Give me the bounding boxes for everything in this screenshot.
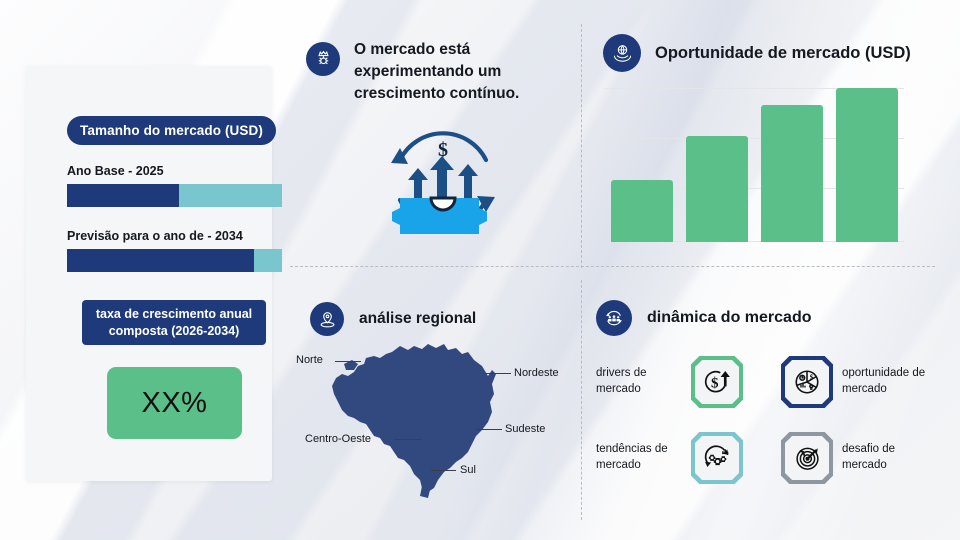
- market-size-card: Tamanho do mercado (USD) Ano Base - 2025…: [26, 66, 272, 481]
- chart-bar: [686, 136, 748, 242]
- dynamics-item-label: desafio de mercado: [842, 442, 928, 473]
- gears-trend-icon: [691, 432, 743, 484]
- opportunity-title: Oportunidade de mercado (USD): [655, 44, 911, 63]
- brazil-map-with-labels: Norte Nordeste Sudeste Centro-Oeste Sul: [296, 340, 586, 500]
- dynamics-items-grid: drivers de mercado $: [596, 352, 946, 502]
- base-year-bar: [67, 184, 282, 207]
- forecast-year-label: Previsão para o ano de - 2034: [67, 229, 243, 243]
- regional-section-header: análise regional: [310, 302, 476, 336]
- leader-line-sudeste: [476, 429, 502, 430]
- dynamics-item-trends[interactable]: tendências de mercado: [596, 432, 743, 484]
- opportunity-bar-chart: [604, 88, 904, 242]
- dynamics-item-drivers[interactable]: drivers de mercado $: [596, 356, 743, 408]
- people-cycle-icon: [596, 300, 632, 336]
- chart-bar: [611, 180, 673, 242]
- pie-chart-icon: $: [781, 356, 833, 408]
- growth-headline: O mercado está experimentando um crescim…: [354, 39, 569, 105]
- cagr-value-box: XX%: [107, 367, 242, 439]
- svg-text:$: $: [810, 374, 814, 382]
- region-label-norte: Norte: [296, 354, 323, 366]
- region-label-nordeste: Nordeste: [514, 367, 559, 379]
- growth-gear-arrows-dollar-illustration: $: [374, 126, 512, 234]
- growth-section-header: O mercado está experimentando um crescim…: [306, 42, 569, 105]
- region-label-centro-oeste: Centro-Oeste: [305, 433, 371, 445]
- market-size-title-pill: Tamanho do mercado (USD): [67, 116, 276, 145]
- leader-line-norte: [335, 361, 361, 362]
- base-year-label: Ano Base - 2025: [67, 164, 164, 178]
- regional-title: análise regional: [359, 310, 476, 328]
- target-dart-icon: [781, 432, 833, 484]
- forecast-year-bar-fill: [67, 249, 254, 272]
- divider-vertical-top: [581, 24, 582, 268]
- leader-line-nordeste: [485, 373, 511, 374]
- chart-bar: [761, 105, 823, 242]
- leader-line-centro-oeste: [395, 439, 421, 440]
- dynamics-item-opportunity[interactable]: $ oportunidade de mercado: [781, 356, 928, 408]
- brazil-map: [296, 340, 586, 500]
- cagr-label-box: taxa de crescimento anual composta (2026…: [82, 300, 266, 345]
- dynamics-item-label: drivers de mercado: [596, 366, 682, 397]
- infographic-canvas: Tamanho do mercado (USD) Ano Base - 2025…: [0, 0, 960, 540]
- dynamics-item-label: tendências de mercado: [596, 442, 682, 473]
- dynamics-title: dinâmica do mercado: [647, 309, 812, 327]
- divider-horizontal: [290, 266, 935, 267]
- globe-hands-icon: [603, 34, 641, 72]
- region-label-sul: Sul: [460, 464, 476, 476]
- base-year-bar-fill: [67, 184, 179, 207]
- svg-text:$: $: [711, 376, 719, 392]
- dynamics-item-label: oportunidade de mercado: [842, 366, 928, 397]
- dynamics-section-header: dinâmica do mercado: [596, 300, 812, 336]
- forecast-year-bar: [67, 249, 282, 272]
- chart-bar: [836, 88, 898, 242]
- market-growth-icon: [306, 42, 340, 76]
- dynamics-item-challenge[interactable]: desafio de mercado: [781, 432, 928, 484]
- region-label-sudeste: Sudeste: [505, 423, 545, 435]
- opportunity-section-header: Oportunidade de mercado (USD): [603, 34, 911, 72]
- dollar-arrow-up-icon: $: [691, 356, 743, 408]
- leader-line-sul: [431, 470, 456, 471]
- location-pin-icon: [310, 302, 344, 336]
